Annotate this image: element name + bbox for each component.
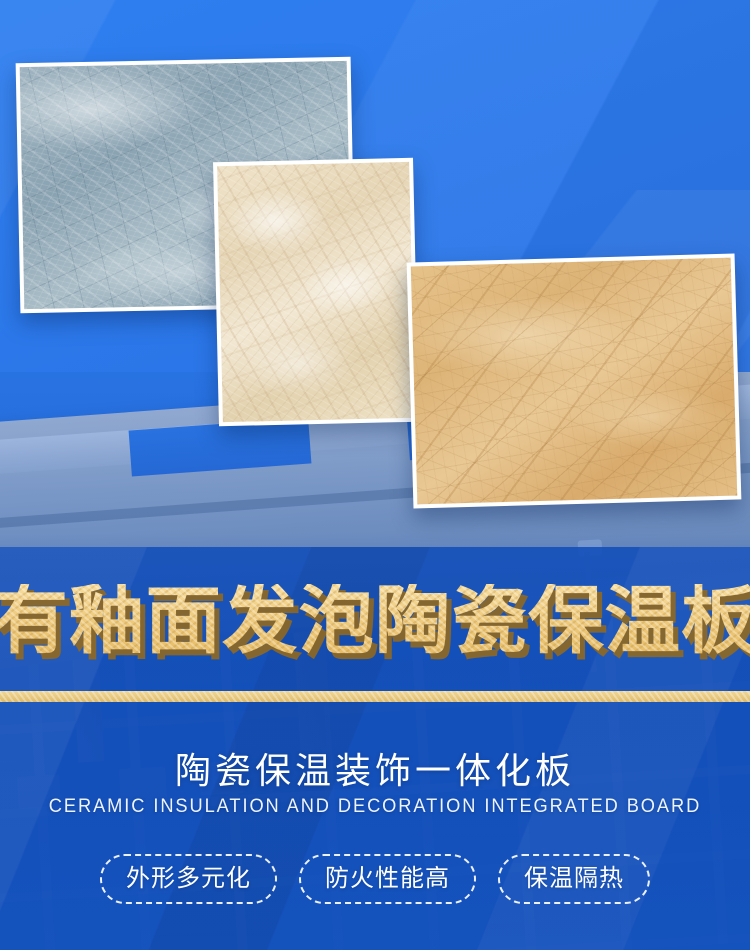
feature-pill-thermal-insulation[interactable]: 保温隔热 (498, 854, 650, 904)
gold-divider-rule (0, 691, 750, 702)
feature-pill-fire-resistance[interactable]: 防火性能高 (299, 854, 476, 904)
subtitle-chinese: 陶瓷保温装饰一体化板 (0, 742, 750, 794)
feature-pill-list: 外形多元化 防火性能高 保温隔热 (0, 854, 750, 904)
headline: 有釉面发泡陶瓷保温板 (0, 584, 750, 658)
marble-texture-golden-tan (411, 258, 738, 505)
feature-pill-shape-diversity[interactable]: 外形多元化 (100, 854, 277, 904)
sample-tile-cream-beige-marble (213, 158, 419, 426)
marble-texture-cream-beige (217, 162, 415, 422)
sample-tile-golden-tan-marble (407, 253, 742, 508)
product-banner: 有釉面发泡陶瓷保温板 陶瓷保温装饰一体化板 CERAMIC INSULATION… (0, 0, 750, 950)
headline-text: 有釉面发泡陶瓷保温板 (0, 584, 750, 658)
subtitle-english: CERAMIC INSULATION AND DECORATION INTEGR… (15, 796, 735, 818)
